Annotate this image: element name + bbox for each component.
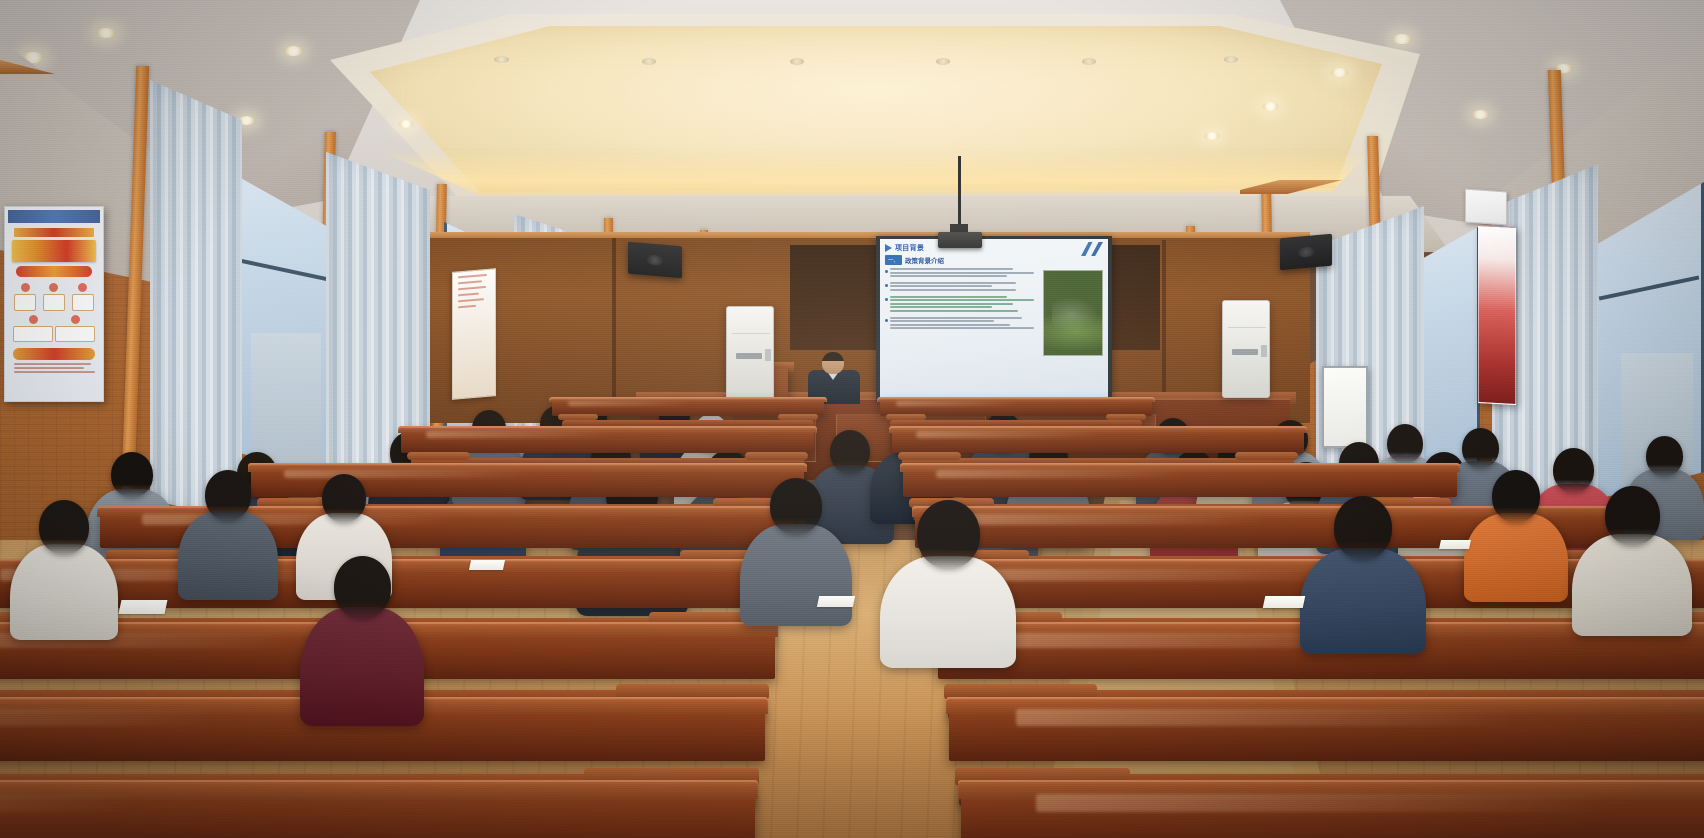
person-torso: [740, 524, 852, 626]
desk-row-8-right: [961, 790, 1704, 838]
desk-row-3-right: [903, 468, 1456, 497]
attendee-5: [300, 556, 424, 726]
bench-arm: [407, 452, 470, 460]
desk-gloss: [936, 470, 1268, 479]
bullet-dot-icon: [885, 298, 888, 301]
poster-footer-bar: [13, 348, 95, 360]
person-head: [111, 452, 153, 497]
bench-arm: [886, 414, 926, 420]
desk-row-2-left: [401, 430, 814, 453]
slide-arrow-icon: [885, 244, 892, 252]
projector-icon: [938, 232, 982, 248]
desk-gloss: [0, 794, 328, 813]
person-head: [917, 500, 980, 568]
slide-header: 项目背景: [885, 243, 1103, 253]
paper-1: [119, 600, 168, 614]
person-torso: [300, 607, 424, 726]
coffer-light-5: [1082, 58, 1096, 65]
right-wall-notice: [1465, 189, 1507, 226]
poster-top-band: [8, 210, 100, 223]
front-wall-notice: [452, 268, 496, 400]
paper-4: [1439, 540, 1471, 549]
ac-vent-left: [736, 353, 762, 359]
slide-title: 项目背景: [895, 243, 924, 253]
bench-arm: [745, 452, 808, 460]
desk-gloss: [996, 633, 1581, 648]
coffer-light-4: [936, 58, 950, 65]
person-torso: [1572, 534, 1692, 636]
downlight-5: [398, 120, 414, 128]
bullet-dot-icon: [885, 284, 888, 287]
coffer-light-1: [494, 56, 509, 63]
bench-arm: [898, 452, 961, 460]
downlight-10: [1472, 110, 1489, 119]
desk-gloss: [916, 431, 1164, 438]
slide-subheader: 一、 政策背景介绍: [885, 255, 1103, 265]
right-wall-speaker-icon: [1280, 234, 1332, 271]
poster-headline-bar: [14, 228, 94, 237]
person-head: [1605, 486, 1660, 545]
attendee-30: [1300, 496, 1426, 654]
paper-3: [469, 560, 505, 570]
desk-row-7-right: [949, 706, 1704, 761]
bench-arm: [778, 414, 818, 420]
poster-icon-1: [14, 283, 36, 311]
poster-icon-4: [13, 315, 53, 342]
projection-screen: 项目背景 一、 政策背景介绍: [880, 239, 1108, 397]
downlight-2: [96, 28, 116, 38]
bench-arm: [558, 414, 598, 420]
whiteboard: [1322, 366, 1368, 448]
front-left-ac-unit: [726, 306, 774, 402]
attendee-3: [178, 470, 278, 600]
paper-2: [1263, 596, 1306, 608]
desk-gloss: [896, 401, 1059, 406]
poster-icon-3: [72, 283, 94, 311]
poster-icon-row: [11, 283, 97, 311]
person-head: [1646, 436, 1683, 476]
bench-arm: [1235, 452, 1298, 460]
slide-bullet-1: [885, 268, 1040, 279]
conference-room-photo: 项目背景 一、 政策背景介绍: [0, 0, 1704, 838]
front-right-ac-unit: [1222, 300, 1270, 398]
coffer-light-6: [1224, 56, 1238, 63]
slide-bullet-2: [885, 282, 1040, 293]
bullet-text-lines: [890, 282, 1040, 293]
attendee-20: [880, 500, 1016, 668]
bullet-dot-icon: [885, 319, 888, 322]
desk-row-8-left: [0, 790, 755, 838]
slide-bullet-3: [885, 296, 1040, 314]
downlight-3: [284, 46, 303, 56]
ac-vent-right: [1232, 349, 1258, 355]
person-head: [1492, 470, 1540, 522]
slide-bullet-4: [885, 317, 1040, 331]
coffer-light-3: [790, 58, 804, 65]
downlight-9: [1204, 132, 1220, 140]
front-wall-seam-1: [612, 238, 616, 408]
attendee-1: [10, 500, 118, 640]
projector-mount-pole: [958, 156, 961, 234]
poster-subtitle-bar: [16, 266, 92, 277]
bench-arm: [1106, 414, 1146, 420]
bullet-dot-icon: [885, 270, 888, 273]
downlight-7: [1330, 68, 1349, 77]
attendee-36: [1572, 486, 1692, 636]
poster-icon-5: [55, 315, 95, 342]
bullet-text-lines: [890, 268, 1040, 279]
person-torso: [178, 511, 278, 600]
slide-photo: [1043, 270, 1103, 356]
downlight-8: [1262, 102, 1279, 111]
person-torso: [1464, 513, 1568, 602]
person-head: [205, 470, 251, 520]
slide-bullet-list: [885, 268, 1040, 356]
desk-gloss: [1016, 709, 1686, 726]
slide-subtitle: 政策背景介绍: [905, 255, 944, 265]
slide-section-tag: 一、: [885, 255, 902, 265]
person-head: [1334, 496, 1392, 559]
poster-icon-2: [43, 283, 65, 311]
desk-gloss: [1036, 794, 1704, 813]
person-torso: [880, 556, 1016, 668]
coffer-light-2: [642, 58, 656, 65]
bullet-text-lines: [890, 296, 1040, 314]
person-torso: [10, 544, 118, 640]
poster-icon-row-2: [12, 315, 96, 342]
person-head: [322, 474, 366, 522]
person-head: [830, 430, 870, 473]
desk-row-2-right: [892, 430, 1305, 453]
ac-display-right: [1261, 345, 1267, 357]
attendee-34: [1464, 470, 1568, 602]
left-wall-speaker-icon: [628, 242, 682, 279]
person-head: [334, 556, 391, 618]
desk-gloss: [568, 401, 731, 406]
downlight-6: [1392, 34, 1412, 44]
right-wall-banner: [1478, 225, 1516, 405]
person-head: [39, 500, 89, 554]
poster-title-bar: [12, 240, 96, 262]
paper-5: [817, 596, 855, 607]
left-wall-poster: [4, 206, 104, 402]
front-wall-seam-2: [1162, 240, 1166, 400]
presentation-slide: 项目背景 一、 政策背景介绍: [880, 239, 1108, 397]
person-head: [770, 478, 822, 534]
ac-display-left: [765, 349, 771, 361]
person-head: [1462, 428, 1499, 468]
person-torso: [1300, 548, 1426, 654]
bullet-text-lines: [890, 317, 1040, 331]
presenter-head: [822, 352, 844, 374]
slide-body: [885, 268, 1103, 356]
desk-gloss: [426, 431, 674, 438]
